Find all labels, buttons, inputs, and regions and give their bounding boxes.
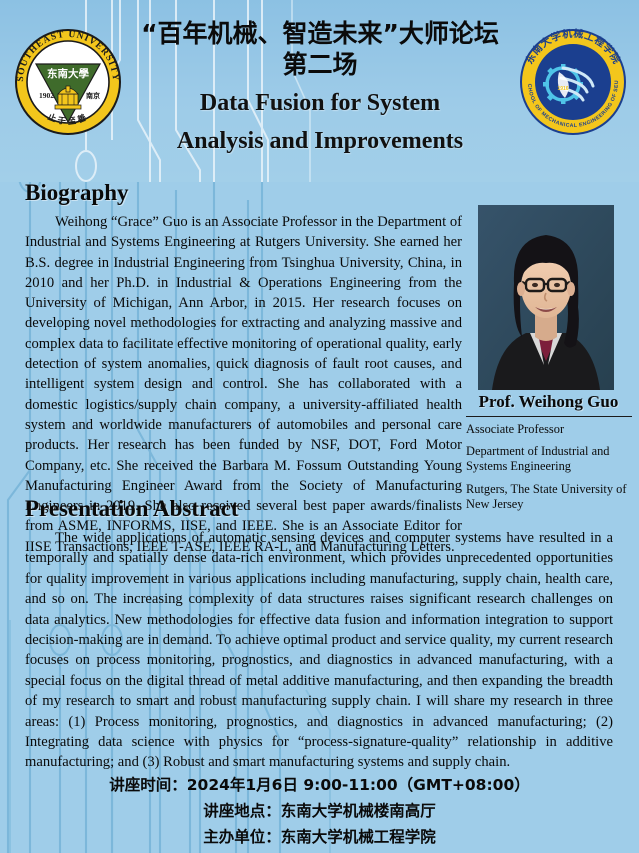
- svg-text:东南大學: 东南大學: [47, 67, 89, 80]
- speaker-name: Prof. Weihong Guo: [466, 392, 631, 412]
- title-chinese-line2: 第二场: [120, 49, 520, 80]
- event-venue: 讲座地点：东南大学机械楼南高厅: [0, 798, 639, 824]
- speaker-affiliation: Associate Professor Department of Indust…: [466, 422, 634, 519]
- poster-header: SOUTHEAST UNIVERSITY 止于至善 东南大學 1902 南京: [0, 0, 639, 182]
- event-details: 讲座时间：2024年1月6日 9:00-11:00（GMT+08:00） 讲座地…: [0, 772, 639, 850]
- speaker-institution: Rutgers, The State University of New Jer…: [466, 482, 634, 512]
- title-english-line2: Analysis and Improvements: [120, 126, 520, 156]
- seminar-poster: SOUTHEAST UNIVERSITY 止于至善 东南大學 1902 南京: [0, 0, 639, 853]
- svg-text:1902: 1902: [39, 91, 54, 100]
- title-chinese-line1: “百年机械、智造未来”大师论坛: [120, 18, 520, 49]
- title-english-line1: Data Fusion for System: [120, 88, 520, 118]
- school-of-mechanical-engineering-logo: 东南大学机械工程学院 SCHOOL OF MECHANICAL ENGINEER…: [519, 28, 627, 136]
- abstract-text: The wide applications of automatic sensi…: [25, 528, 613, 773]
- abstract-heading: Presentation Abstract: [25, 496, 239, 522]
- svg-text:南京: 南京: [86, 91, 100, 100]
- event-time: 讲座时间：2024年1月6日 9:00-11:00（GMT+08:00）: [0, 772, 639, 798]
- event-organizer: 主办单位：东南大学机械工程学院: [0, 824, 639, 850]
- speaker-name-divider: [466, 416, 632, 417]
- speaker-department: Department of Industrial and Systems Eng…: [466, 444, 634, 474]
- biography-heading: Biography: [25, 180, 129, 206]
- speaker-photo: [478, 205, 614, 390]
- poster-title-block: “百年机械、智造未来”大师论坛 第二场 Data Fusion for Syst…: [120, 18, 520, 156]
- southeast-university-logo: SOUTHEAST UNIVERSITY 止于至善 东南大學 1902 南京: [14, 28, 122, 136]
- svg-text:1916: 1916: [557, 86, 568, 92]
- speaker-title: Associate Professor: [466, 422, 634, 437]
